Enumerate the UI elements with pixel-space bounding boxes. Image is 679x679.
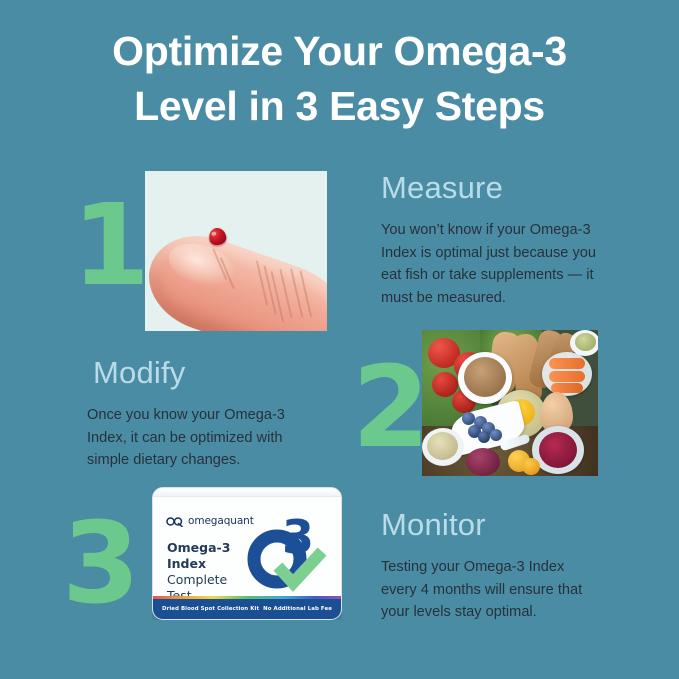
- step-number-3: 3: [62, 508, 140, 620]
- omegaquant-test-kit-box-photo: omegaquant Omega-3 Index Complete Test 3…: [152, 487, 342, 620]
- omegaquant-infinity-mark: [166, 516, 183, 527]
- box-footer-bar: Dried Blood Spot Collection Kit No Addit…: [153, 599, 341, 619]
- title-line-1: Optimize Your Omega-3: [40, 24, 639, 79]
- box-front-face: omegaquant Omega-3 Index Complete Test 3: [153, 497, 341, 599]
- title-line-2: Level in 3 Easy Steps: [40, 79, 639, 134]
- step-heading-modify: Modify: [93, 357, 186, 388]
- step-heading-measure: Measure: [381, 172, 503, 203]
- product-box: omegaquant Omega-3 Index Complete Test 3…: [152, 487, 342, 620]
- product-title-line-1: Omega-3: [167, 540, 230, 556]
- fingertip-blood-drop-photo: [145, 171, 327, 331]
- step-number-1: 1: [72, 190, 150, 302]
- finger-highlight: [163, 236, 242, 297]
- finger-shape: [145, 222, 327, 331]
- o3-badge-icon: 3: [246, 513, 332, 597]
- step-body-measure: You won’t know if your Omega-3 Index is …: [381, 219, 609, 309]
- box-footer-left-text: Dried Blood Spot Collection Kit: [162, 606, 259, 612]
- step-body-monitor: Testing your Omega-3 Index every 4 month…: [381, 556, 603, 624]
- step-body-modify: Once you know your Omega-3 Index, it can…: [87, 404, 313, 472]
- step-heading-monitor: Monitor: [381, 509, 486, 540]
- product-title-line-3: Complete: [167, 572, 230, 588]
- box-footer-right-text: No Additional Lab Fee: [263, 606, 332, 612]
- omega3-infographic: Optimize Your Omega-3 Level in 3 Easy St…: [0, 0, 679, 679]
- product-title-line-2: Index: [167, 556, 230, 572]
- box-lid-edge: [153, 488, 341, 497]
- healthy-omega3-foods-photo: [422, 330, 598, 476]
- svg-text:3: 3: [282, 513, 314, 564]
- brand-logo: omegaquant: [166, 515, 254, 527]
- product-title: Omega-3 Index Complete Test: [167, 540, 230, 604]
- brand-wordmark: omegaquant: [188, 515, 254, 527]
- step-number-2: 2: [352, 352, 430, 464]
- page-title: Optimize Your Omega-3 Level in 3 Easy St…: [0, 24, 679, 133]
